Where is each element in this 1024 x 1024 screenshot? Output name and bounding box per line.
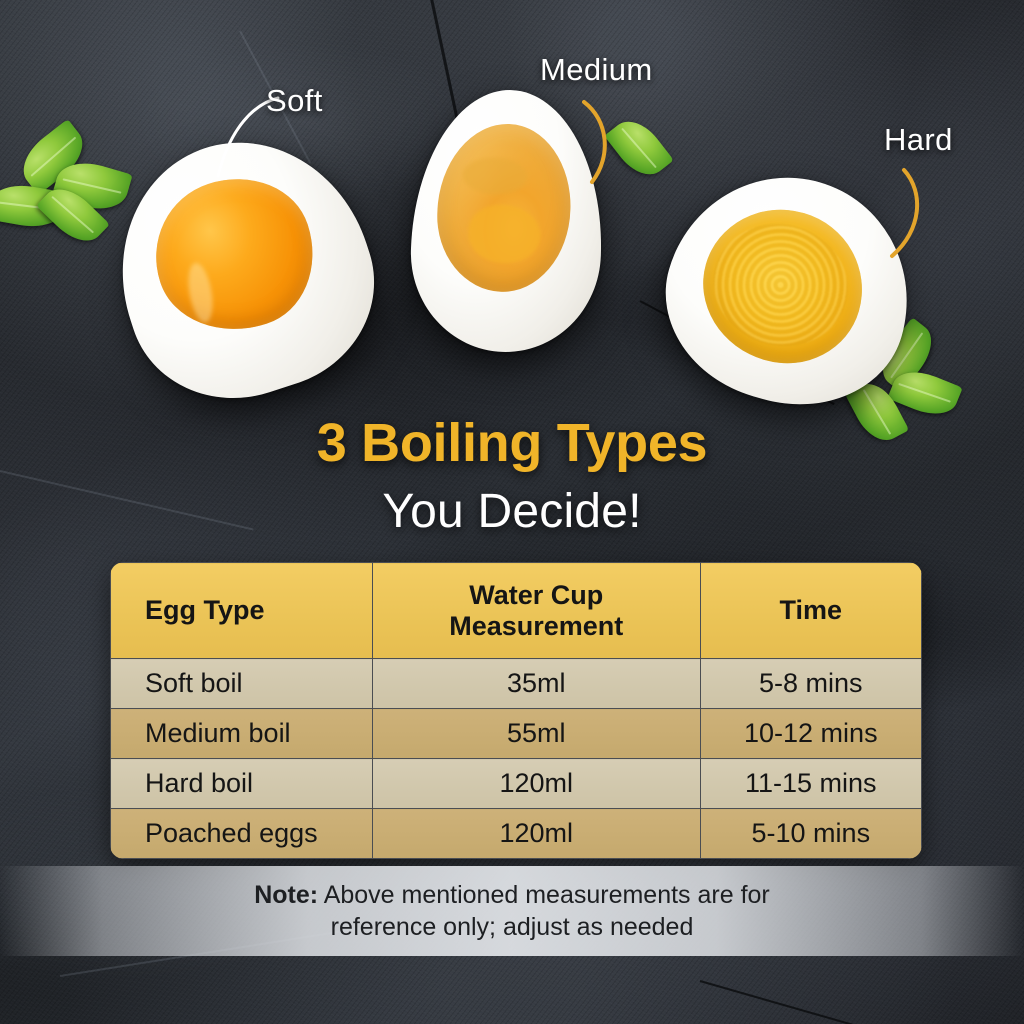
note-line1: Above mentioned measurements are for	[318, 881, 770, 909]
boiling-times-table: Egg Type Water Cup Measurement Time Soft…	[110, 562, 922, 859]
cell-time: 10-12 mins	[700, 709, 921, 759]
note-line2: reference only; adjust as needed	[331, 913, 694, 941]
infographic-canvas: Soft Medium Hard 3 Boiling Types You Dec…	[0, 0, 1024, 1024]
column-header-water-line2: Measurement	[449, 611, 623, 641]
table-row: Poached eggs 120ml 5-10 mins	[111, 809, 922, 859]
cell-time: 5-8 mins	[700, 659, 921, 709]
column-header-egg-type: Egg Type	[111, 563, 373, 659]
hard-callout-pointer	[888, 166, 938, 262]
medium-callout-pointer	[578, 98, 628, 188]
cell-water: 120ml	[372, 759, 700, 809]
cell-egg-type: Medium boil	[111, 709, 373, 759]
column-header-water-cup-measurement: Water Cup Measurement	[372, 563, 700, 659]
table-row: Hard boil 120ml 11-15 mins	[111, 759, 922, 809]
cell-time: 11-15 mins	[700, 759, 921, 809]
cell-time: 5-10 mins	[700, 809, 921, 859]
callout-label-hard: Hard	[884, 122, 953, 158]
cell-water: 120ml	[372, 809, 700, 859]
column-header-time: Time	[700, 563, 921, 659]
column-header-water-line1: Water Cup	[469, 580, 603, 610]
table-row: Soft boil 35ml 5-8 mins	[111, 659, 922, 709]
cell-egg-type: Hard boil	[111, 759, 373, 809]
cell-water: 55ml	[372, 709, 700, 759]
callout-label-medium: Medium	[540, 52, 653, 88]
note-banner: Note: Above mentioned measurements are f…	[0, 866, 1024, 956]
headline-secondary: You Decide!	[0, 484, 1024, 539]
headline-primary: 3 Boiling Types	[0, 412, 1024, 474]
table-row: Medium boil 55ml 10-12 mins	[111, 709, 922, 759]
cell-water: 35ml	[372, 659, 700, 709]
note-prefix: Note:	[254, 881, 318, 909]
note-text: Note: Above mentioned measurements are f…	[254, 879, 770, 944]
cell-egg-type: Soft boil	[111, 659, 373, 709]
table-header-row: Egg Type Water Cup Measurement Time	[111, 563, 922, 659]
callout-label-soft: Soft	[266, 83, 323, 119]
cell-egg-type: Poached eggs	[111, 809, 373, 859]
medium-boiled-egg	[407, 87, 606, 355]
